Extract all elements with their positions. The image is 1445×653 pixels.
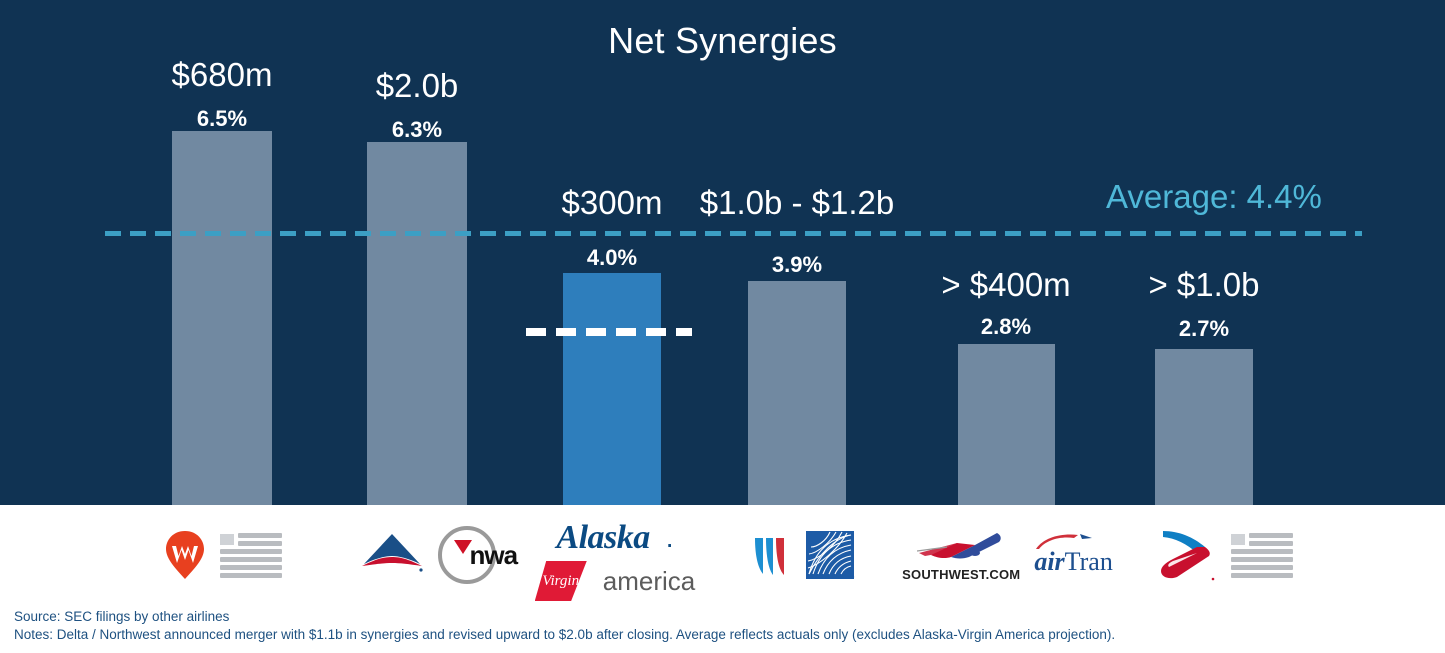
bar-southwest-airtran	[958, 344, 1055, 505]
logo-group-southwest-airtran: SOUTHWEST.COM airTran	[900, 505, 1115, 605]
bar-united-continental	[748, 281, 846, 505]
bar-amount-label-1: $680m	[122, 56, 322, 94]
bar-amount-label-2: $2.0b	[317, 67, 517, 105]
airtran-tran-wordmark: Tran	[1065, 547, 1113, 576]
southwest-plane-icon	[917, 529, 1005, 565]
footnotes: Source: SEC filings by other airlines No…	[14, 608, 1115, 644]
bar-amount-label-5: > $400m	[906, 266, 1106, 304]
us-airways-flag-logo-icon-2	[1231, 533, 1293, 578]
southwest-logo-icon: SOUTHWEST.COM	[902, 529, 1020, 582]
american-airlines-logo-icon	[1157, 527, 1217, 583]
america-west-logo-icon	[164, 529, 206, 581]
alaska-logo-icon: Alaska .	[556, 519, 673, 557]
chart-plot-area: $680m 6.5% $2.0b 6.3% $300m 4.0% $1.0b -…	[0, 0, 1445, 505]
virgin-wordmark: Virgin	[542, 573, 579, 590]
alaska-wordmark: Alaska	[556, 519, 649, 557]
footnote-notes: Notes: Delta / Northwest announced merge…	[14, 626, 1115, 644]
logo-group-united-continental	[725, 505, 880, 605]
bar-amount-label-6: > $1.0b	[1104, 266, 1304, 304]
average-reference-line	[105, 231, 1362, 236]
logo-group-alaska-virgin-america: Alaska . Virgin america	[515, 505, 715, 615]
america-wordmark: america	[603, 566, 695, 597]
alaska-dot: .	[666, 533, 674, 543]
delta-logo-icon	[360, 532, 424, 578]
bar-delta-northwest	[367, 142, 467, 505]
airtran-logo-icon: airTran	[1034, 533, 1113, 577]
southwest-wordmark: SOUTHWEST.COM	[902, 567, 1020, 582]
airtran-air-wordmark: air	[1034, 547, 1064, 576]
bar-amount-label-4: $1.0b - $1.2b	[677, 184, 917, 222]
bar-percent-label-1: 6.5%	[132, 106, 312, 132]
united-tulip-logo-icon	[751, 532, 791, 578]
projection-dashed-line	[526, 328, 692, 336]
logo-group-america-west-us-airways	[150, 505, 295, 605]
bar-percent-label-6: 2.7%	[1114, 316, 1294, 342]
us-airways-flag-logo-icon	[220, 533, 282, 578]
bar-american-us-airways	[1155, 349, 1253, 505]
logo-group-delta-northwest: nwa	[345, 505, 510, 605]
net-synergies-slide: Net Synergies $680m 6.5% $2.0b 6.3% $300…	[0, 0, 1445, 653]
bar-percent-label-5: 2.8%	[916, 314, 1096, 340]
bar-percent-label-3: 4.0%	[522, 245, 702, 271]
virgin-tail-shape: Virgin	[535, 561, 587, 601]
bar-percent-label-2: 6.3%	[327, 117, 507, 143]
virgin-america-logo-icon: Virgin america	[535, 561, 695, 601]
continental-globe-logo-icon	[805, 530, 855, 580]
bar-america-west-us-airways	[172, 131, 272, 505]
footnote-source: Source: SEC filings by other airlines	[14, 608, 1115, 626]
average-label: Average: 4.4%	[1106, 178, 1322, 216]
northwest-airlines-logo-icon: nwa	[438, 526, 496, 584]
logo-group-american-us-airways	[1145, 505, 1305, 605]
bar-percent-label-4: 3.9%	[707, 252, 887, 278]
bar-alaska-virgin-america	[563, 273, 661, 505]
